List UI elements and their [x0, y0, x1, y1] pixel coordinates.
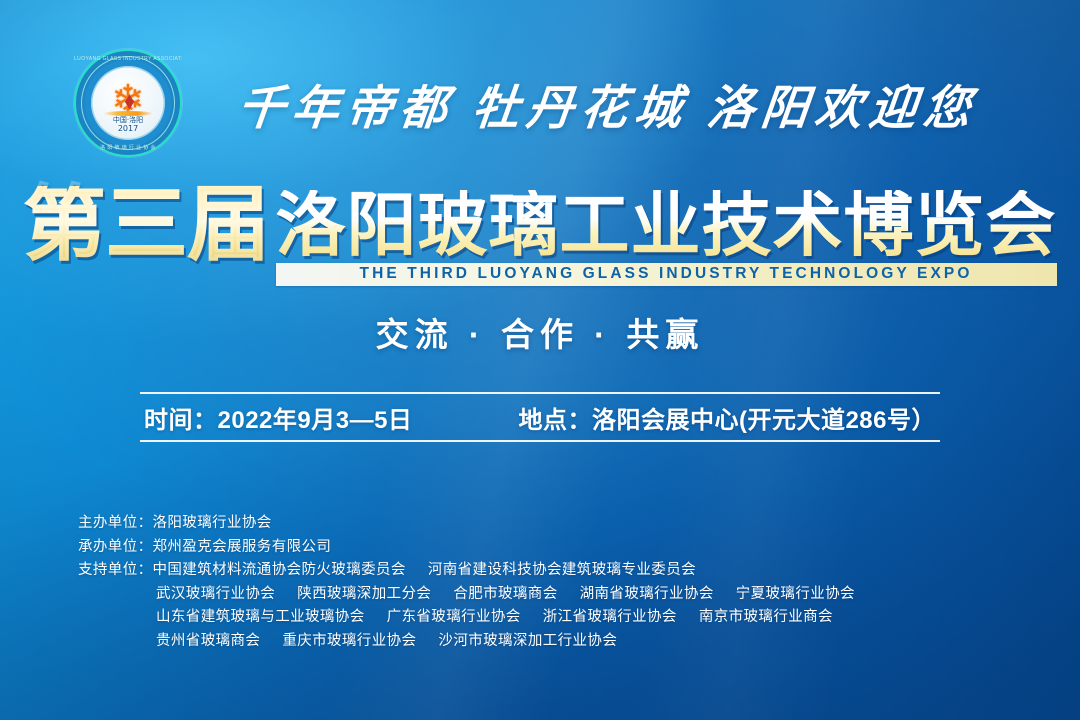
title-block: 第三届 洛阳玻璃工业技术博览会 THE THIRD LUOYANG GLASS … — [0, 186, 1080, 296]
title-main-chinese: 洛阳玻璃工业技术博览会 — [276, 190, 1057, 261]
flame-inner-icon: ♦ — [124, 87, 135, 113]
supporters-row-0: 中国建筑材料流通协会防火玻璃委员会河南省建设科技协会建筑玻璃专业委员会 — [153, 562, 697, 578]
title-main-wrap: 洛阳玻璃工业技术博览会 THE THIRD LUOYANG GLASS INDU… — [276, 186, 1057, 286]
event-slogan: 交流 · 合作 · 共赢 — [0, 308, 1080, 356]
supporter-name: 武汉玻璃行业协会 — [156, 586, 275, 602]
supporter-name: 河南省建设科技协会建筑玻璃专业委员会 — [428, 562, 696, 578]
organizers-block: 主办单位：洛阳玻璃行业协会 承办单位：郑州盈克会展服务有限公司 支持单位：中国建… — [78, 512, 1020, 653]
title-ordinal: 第三届 — [23, 186, 269, 265]
host-label: 主办单位： — [78, 515, 153, 531]
host-value: 洛阳玻璃行业协会 — [153, 515, 272, 531]
supporter-name: 宁夏玻璃行业协会 — [736, 586, 855, 602]
supporter-name: 山东省建筑玻璃与工业玻璃协会 — [156, 609, 365, 625]
emblem-chinese-arc-text: 洛 阳 玻 璃 行 业 协 会 — [74, 144, 182, 151]
host-line: 主办单位：洛阳玻璃行业协会 — [78, 512, 1020, 536]
supporter-name: 广东省玻璃行业协会 — [387, 609, 521, 625]
supporter-name: 浙江省玻璃行业协会 — [543, 609, 677, 625]
supporters-row-1: 武汉玻璃行业协会陕西玻璃深加工分会合肥市玻璃商会湖南省玻璃行业协会宁夏玻璃行业协… — [78, 583, 1020, 607]
poster-header: LUOYANG GLASS INDUSTRY ASSOCIATION 洛 阳 玻… — [74, 44, 1020, 162]
expo-poster: LUOYANG GLASS INDUSTRY ASSOCIATION 洛 阳 玻… — [0, 0, 1080, 720]
emblem-center-disc: ❄ ♦ 中国·洛阳 2017 — [91, 66, 165, 140]
supporters-row-2: 山东省建筑玻璃与工业玻璃协会广东省玻璃行业协会浙江省玻璃行业协会南京市玻璃行业商… — [78, 606, 1020, 630]
supporter-name: 合肥市玻璃商会 — [453, 586, 557, 602]
supporters-row-3: 贵州省玻璃商会重庆市玻璃行业协会沙河市玻璃深加工行业协会 — [78, 630, 1020, 654]
supporter-name: 贵州省玻璃商会 — [156, 633, 260, 649]
supporter-name: 南京市玻璃行业商会 — [699, 609, 833, 625]
title-english-subtitle: THE THIRD LUOYANG GLASS INDUSTRY TECHNOL… — [276, 263, 1057, 286]
date-venue-band: 时间：2022年9月3—5日 地点：洛阳会展中心(开元大道286号） — [140, 392, 940, 442]
supporters-first-line: 支持单位：中国建筑材料流通协会防火玻璃委员会河南省建设科技协会建筑玻璃专业委员会 — [78, 559, 1020, 583]
event-date: 时间：2022年9月3—5日 — [144, 400, 412, 435]
supporter-name: 沙河市玻璃深加工行业协会 — [438, 633, 617, 649]
supporters-label: 支持单位： — [78, 562, 153, 578]
organizer-label: 承办单位： — [78, 539, 153, 555]
supporter-name: 湖南省玻璃行业协会 — [580, 586, 714, 602]
organizer-value: 郑州盈克会展服务有限公司 — [153, 539, 332, 555]
supporter-name: 陕西玻璃深加工分会 — [297, 586, 431, 602]
welcome-tagline: 千年帝都 牡丹花城 洛阳欢迎您 — [216, 69, 1023, 138]
supporter-name: 中国建筑材料流通协会防火玻璃委员会 — [153, 562, 406, 578]
emblem-year-text: 2017 — [91, 124, 165, 133]
event-venue: 地点：洛阳会展中心(开元大道286号） — [518, 400, 936, 435]
association-emblem-logo: LUOYANG GLASS INDUSTRY ASSOCIATION 洛 阳 玻… — [74, 49, 182, 157]
organizer-line: 承办单位：郑州盈克会展服务有限公司 — [78, 536, 1020, 560]
title-row: 第三届 洛阳玻璃工业技术博览会 THE THIRD LUOYANG GLASS … — [23, 186, 1056, 286]
emblem-english-arc-text: LUOYANG GLASS INDUSTRY ASSOCIATION — [74, 56, 182, 62]
supporter-name: 重庆市玻璃行业协会 — [282, 633, 416, 649]
